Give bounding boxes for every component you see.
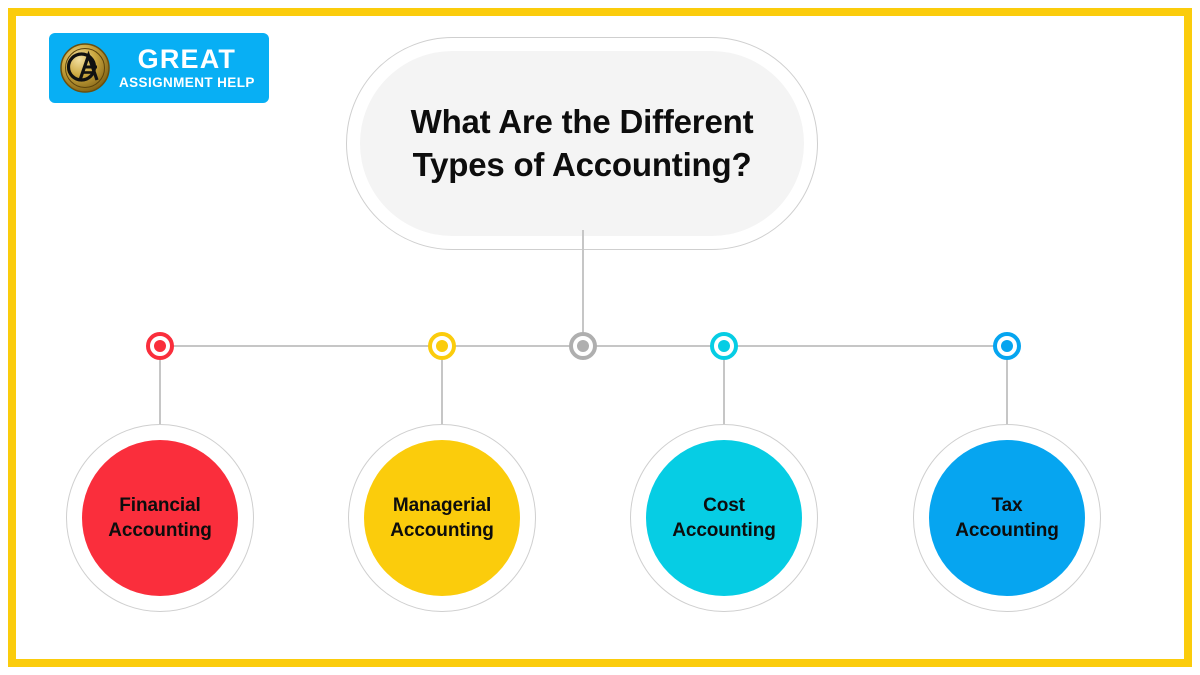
- branch-node-icon: [154, 340, 166, 352]
- branch-node-icon: [436, 340, 448, 352]
- category-label-line-2: Accounting: [390, 518, 494, 543]
- category-label-financial: Financial Accounting: [100, 493, 220, 543]
- category-label-line-2: Accounting: [108, 518, 212, 543]
- category-label-line-1: Tax: [955, 493, 1059, 518]
- category-label-tax: Tax Accounting: [947, 493, 1067, 543]
- hub-node-icon: [577, 340, 589, 352]
- page-title-line-1: What Are the Different: [411, 101, 754, 143]
- brand-subtitle: ASSIGNMENT HELP: [119, 76, 255, 90]
- ga-coin-emblem-icon: [57, 40, 113, 96]
- category-label-line-1: Managerial: [390, 493, 494, 518]
- diagram-canvas: GREAT ASSIGNMENT HELP What Are the Diffe…: [16, 16, 1184, 659]
- infographic-page: GREAT ASSIGNMENT HELP What Are the Diffe…: [0, 0, 1200, 675]
- brand-logo-badge[interactable]: GREAT ASSIGNMENT HELP: [49, 33, 269, 103]
- branch-node-financial[interactable]: [146, 332, 174, 360]
- category-fill-financial: Financial Accounting: [82, 440, 238, 596]
- branch-node-managerial[interactable]: [428, 332, 456, 360]
- category-label-line-2: Accounting: [672, 518, 776, 543]
- category-label-line-1: Financial: [108, 493, 212, 518]
- category-label-line-2: Accounting: [955, 518, 1059, 543]
- brand-logo-text: GREAT ASSIGNMENT HELP: [119, 46, 255, 90]
- category-label-line-1: Cost: [672, 493, 776, 518]
- title-stem-connector: [582, 230, 584, 346]
- category-circle-managerial[interactable]: Managerial Accounting: [348, 424, 536, 612]
- category-fill-tax: Tax Accounting: [929, 440, 1085, 596]
- hub-node-center[interactable]: [569, 332, 597, 360]
- page-title-pill: What Are the Different Types of Accounti…: [346, 37, 818, 250]
- category-label-managerial: Managerial Accounting: [382, 493, 502, 543]
- page-title-line-2: Types of Accounting?: [411, 144, 754, 186]
- page-title: What Are the Different Types of Accounti…: [383, 101, 782, 185]
- page-title-inner: What Are the Different Types of Accounti…: [360, 51, 804, 236]
- brand-title: GREAT: [138, 46, 237, 73]
- branch-node-tax[interactable]: [993, 332, 1021, 360]
- category-fill-managerial: Managerial Accounting: [364, 440, 520, 596]
- category-circle-financial[interactable]: Financial Accounting: [66, 424, 254, 612]
- branch-node-icon: [1001, 340, 1013, 352]
- category-circle-cost[interactable]: Cost Accounting: [630, 424, 818, 612]
- category-circle-tax[interactable]: Tax Accounting: [913, 424, 1101, 612]
- category-fill-cost: Cost Accounting: [646, 440, 802, 596]
- branch-node-icon: [718, 340, 730, 352]
- category-label-cost: Cost Accounting: [664, 493, 784, 543]
- branch-node-cost[interactable]: [710, 332, 738, 360]
